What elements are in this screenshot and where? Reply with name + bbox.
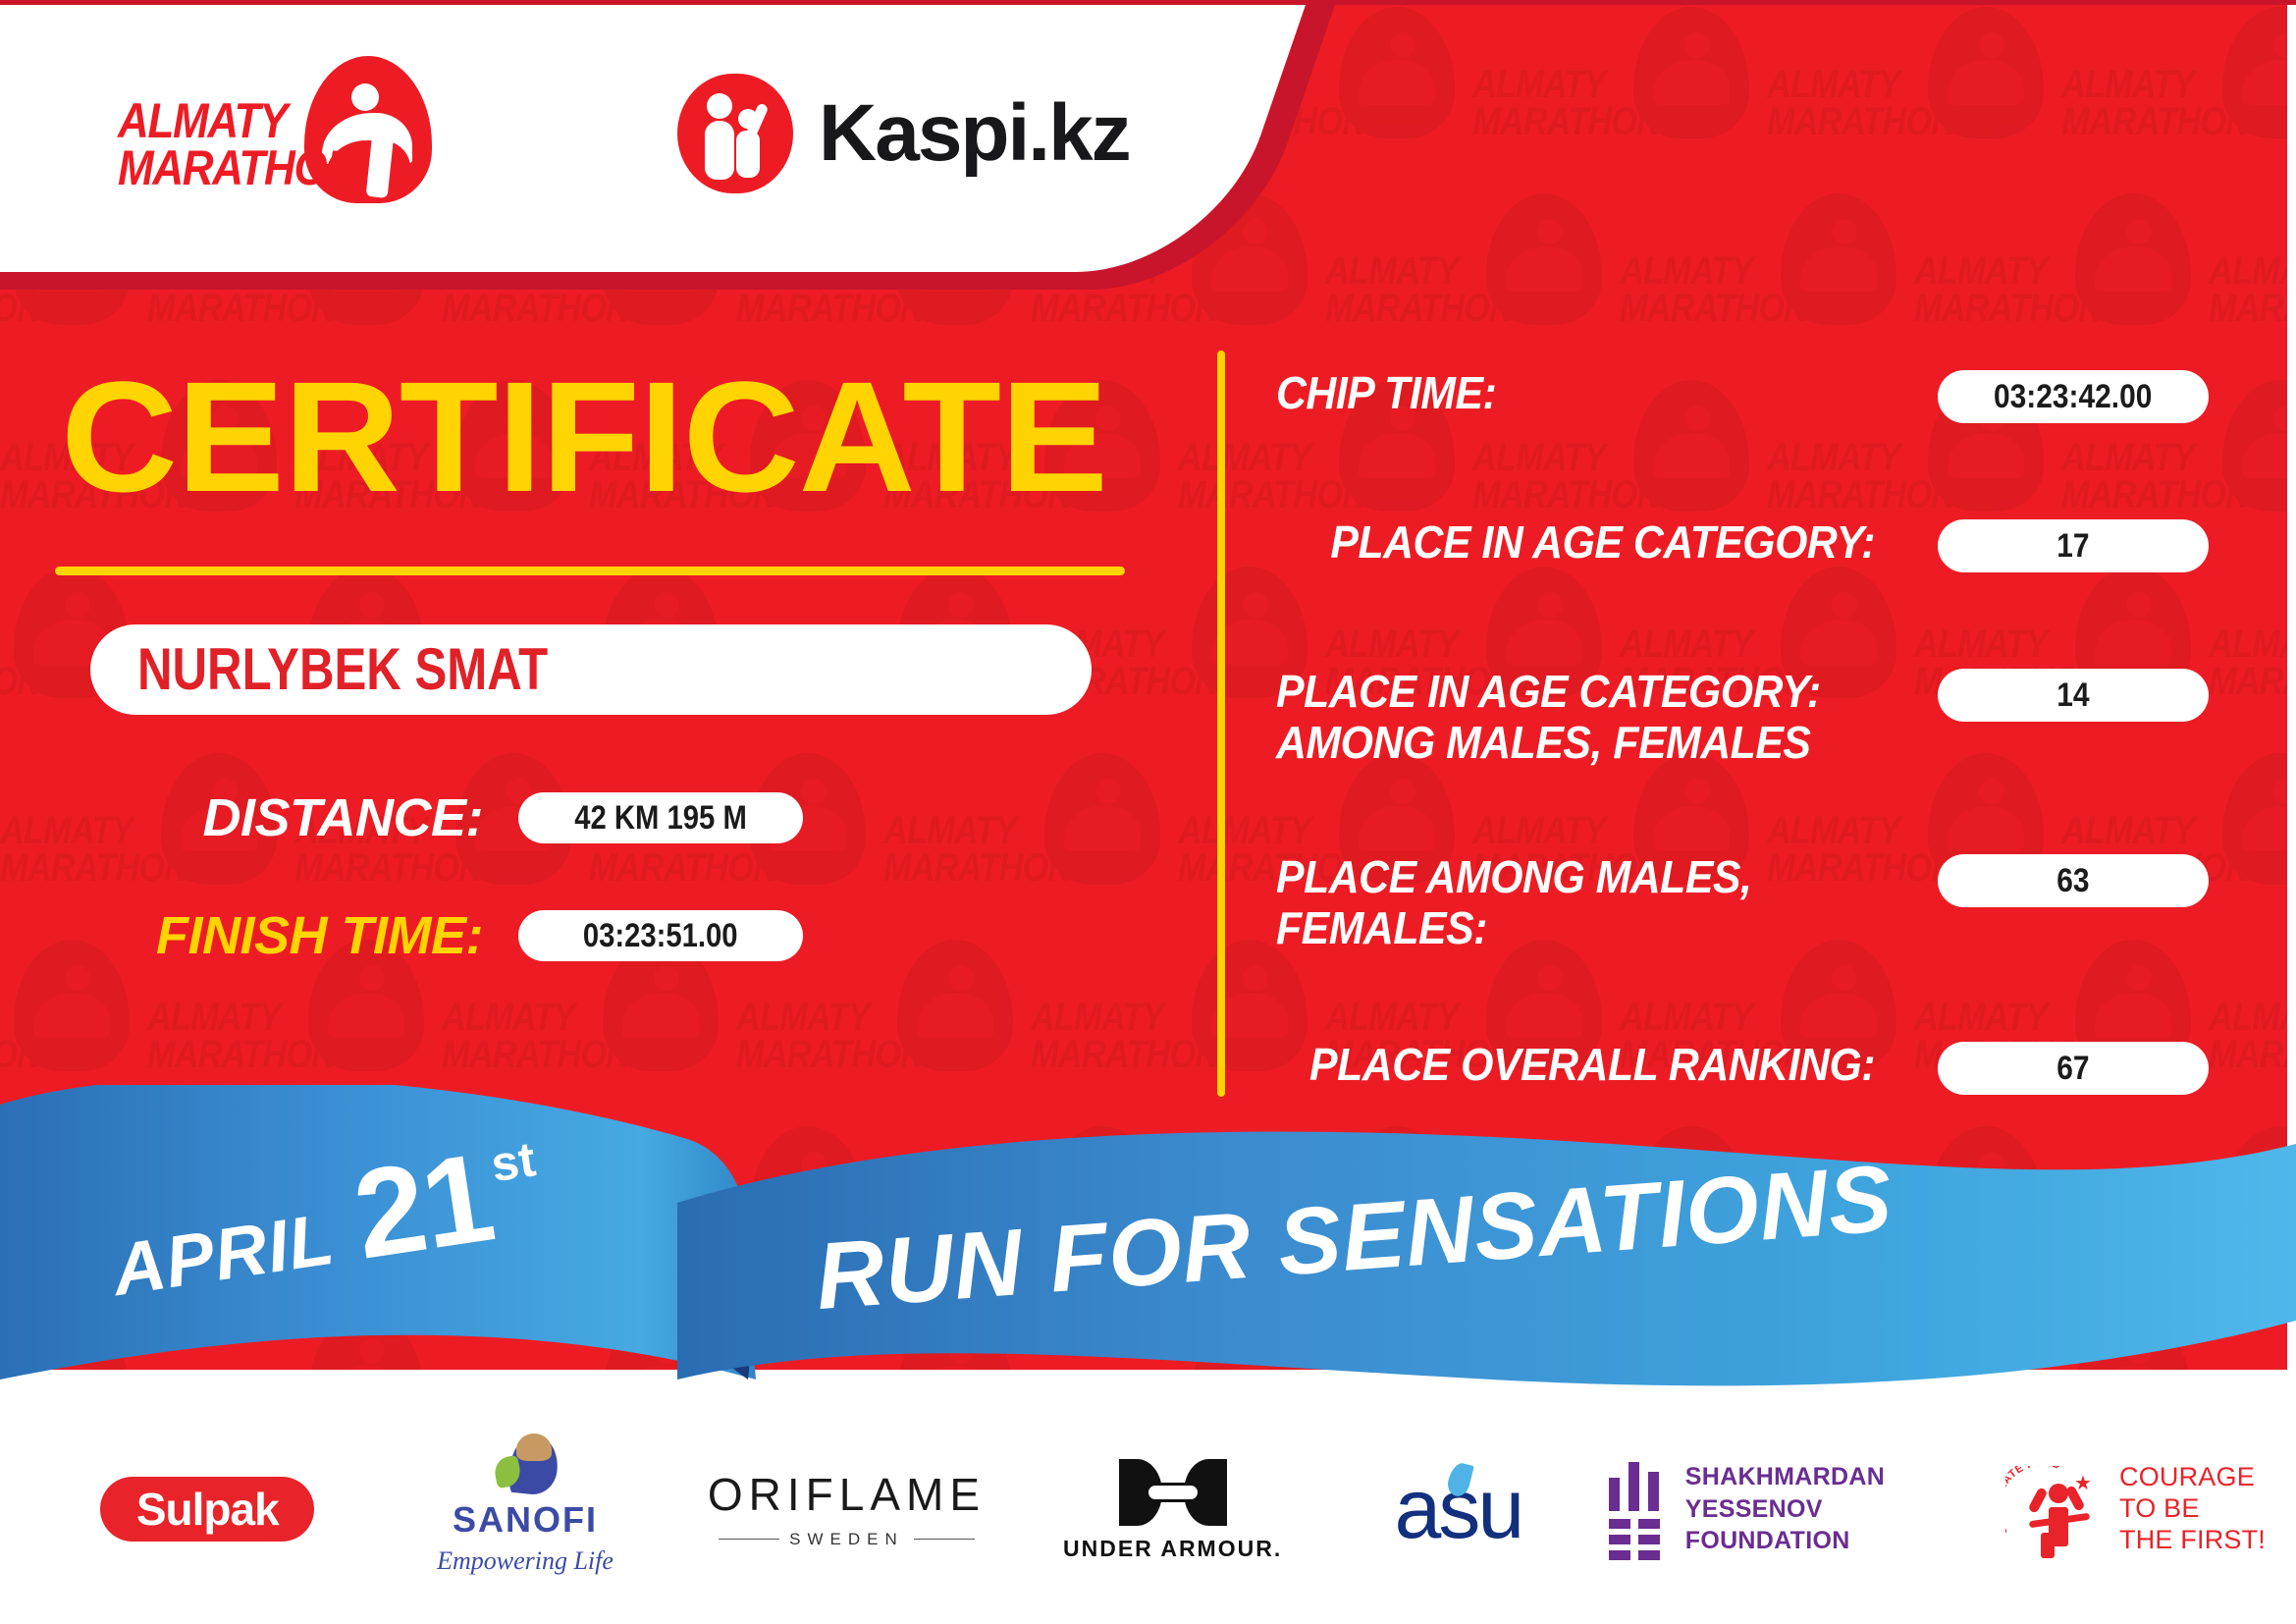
watermark-tile: ALMATYMARATHON [1767,5,2061,191]
certificate-stats-column: CHIP TIME: 03:23:42.00 PLACE IN AGE CATE… [1276,368,2209,1103]
participant-name: NURLYBEK SMAT [137,640,548,699]
certificate-canvas: ALMATYMARATHONALMATYMARATHONALMATYMARATH… [0,0,2296,1624]
sulpak-wordmark: Sulpak [136,1487,279,1532]
stat-label-place-among-males-females: PLACE AMONG MALES, FEMALES: [1276,852,1892,953]
stat-label-line2: AMONG MALES, FEMALES [1276,718,1875,769]
watermark-tile: ALMATYMARATHON [1620,191,1914,378]
stat-row-chip-time: CHIP TIME: 03:23:42.00 [1276,368,2209,431]
distance-value: 42 KM 195 M [574,801,747,835]
finish-time-row: FINISH TIME: 03:23:51.00 [90,909,1158,962]
kaspi-wordmark: Kaspi.kz [819,93,1130,174]
sponsor-under-armour: UNDER ARMOUR. [1047,1435,1297,1583]
watermark-tile: ALMATYMARATHON [2209,191,2287,378]
stat-label-line2: FEMALES: [1276,903,1875,954]
watermark-tile: ALMATYMARATHON [1472,5,1767,191]
oriflame-wordmark: ORIFLAME [704,1472,988,1517]
stat-value-place-age-category: 17 [2056,529,2089,563]
finish-time-value: 03:23:51.00 [583,919,738,952]
stat-label-chip-time: CHIP TIME: [1276,368,1892,419]
stat-pill-chip-time: 03:23:42.00 [1938,370,2209,423]
title-underline [55,567,1125,575]
stat-label-place-age-category-among: PLACE IN AGE CATEGORY: AMONG MALES, FEMA… [1276,667,1892,768]
distance-label: DISTANCE: [90,791,483,844]
courage-runner-icon: CORPORATE FUND ★ [2011,1460,2106,1558]
almaty-wordmark-line2: MARATHON [118,144,343,191]
almaty-marathon-wordmark: ALMATY MARATHON [118,97,343,191]
under-armour-wordmark: UNDER ARMOUR. [1050,1538,1296,1560]
courage-line3: THE FIRST! [2119,1525,2266,1556]
column-divider [1217,351,1225,1097]
courage-line2: TO BE [2119,1493,2266,1525]
sponsor-asu: asu [1357,1435,1560,1583]
stat-row-place-age-category-among: PLACE IN AGE CATEGORY: AMONG MALES, FEMA… [1276,667,2209,768]
watermark-tile: ALMATYMARATHON [2209,565,2287,751]
sponsor-strip: Sulpak SANOFI Empowering Life ORIFLAME S… [0,1394,2296,1624]
stat-row-place-age-category: PLACE IN AGE CATEGORY: 17 [1276,517,2209,580]
stat-label-line1: PLACE IN AGE CATEGORY: [1330,516,1875,568]
stat-value-place-overall-ranking: 67 [2056,1052,2089,1085]
courage-line1: COURAGE [2119,1462,2266,1493]
distance-row: DISTANCE: 42 KM 195 M [90,791,1158,844]
kaspi-people-icon [677,74,793,193]
sponsor-oriflame: ORIFLAME SWEDEN [704,1435,988,1583]
header-logos: ALMATY MARATHON Kaspi.kz [0,5,1178,272]
stat-label-line1: CHIP TIME: [1276,367,1496,418]
stat-row-place-among-males-females: PLACE AMONG MALES, FEMALES: 63 [1276,852,2209,953]
yessenov-line2: FOUNDATION [1685,1525,1972,1557]
under-armour-icon [1119,1459,1227,1526]
sponsor-sulpak: Sulpak [69,1435,347,1583]
watermark-tile: ALMATYMARATHON [2061,5,2287,191]
stat-pill-place-among-males-females: 63 [1938,854,2209,907]
ribbon-month: APRIL [108,1203,339,1308]
courage-fund-logo: CORPORATE FUND ★ COURAGETO BETHE FIRST! [2011,1460,2296,1558]
oriflame-rule-right [914,1539,975,1540]
finish-time-value-pill: 03:23:51.00 [518,910,803,961]
sanofi-tagline: Empowering Life [412,1545,638,1576]
yessenov-wordmark: SHAKHMARDAN YESSENOV FOUNDATION [1685,1461,1972,1557]
certificate-title: CERTIFICATE [61,358,1192,515]
watermark-tile: ALMATYMARATHON [1914,191,2209,378]
stat-label-place-overall-ranking: PLACE OVERALL RANKING: [1276,1040,1892,1091]
watermark-tile: ALMATYMARATHON [1325,191,1620,378]
yessenov-line1: SHAKHMARDAN YESSENOV [1685,1461,1972,1525]
stat-label-line1: PLACE AMONG MALES, [1276,851,1751,902]
distance-value-pill: 42 KM 195 M [518,792,803,843]
stat-pill-place-age-category: 17 [1938,519,2209,572]
oriflame-sweden-row: SWEDEN [704,1531,988,1547]
yessenov-bars-icon [1609,1462,1660,1556]
stat-label-line1: PLACE OVERALL RANKING: [1309,1039,1875,1090]
sponsor-courage-fund: CORPORATE FUND ★ COURAGETO BETHE FIRST! [2011,1435,2296,1583]
courage-fund-text: COURAGETO BETHE FIRST! [2119,1462,2266,1556]
sponsor-yessenov-foundation: SHAKHMARDAN YESSENOV FOUNDATION [1609,1435,1972,1583]
sponsor-sanofi: SANOFI Empowering Life [405,1435,646,1583]
oriflame-rule-left [719,1539,779,1540]
finish-time-label: FINISH TIME: [90,909,483,962]
ribbon-day: 21 [347,1135,500,1279]
stat-label-place-age-category: PLACE IN AGE CATEGORY: [1276,517,1892,568]
asu-logo: asu [1364,1467,1551,1551]
oriflame-tagline: SWEDEN [789,1531,904,1547]
sulpak-logo: Sulpak [100,1477,314,1542]
sanofi-logo: SANOFI Empowering Life [412,1435,638,1583]
sanofi-bird-icon [489,1435,561,1496]
stat-value-place-age-category-among: 14 [2056,678,2089,712]
stat-pill-place-age-category-among: 14 [1938,669,2209,722]
ribbon-ordinal: st [488,1134,538,1189]
kaspi-logo: Kaspi.kz [677,74,1130,193]
yessenov-logo: SHAKHMARDAN YESSENOV FOUNDATION [1609,1461,1972,1557]
under-armour-logo: UNDER ARMOUR. [1050,1459,1296,1560]
sanofi-wordmark: SANOFI [412,1502,638,1538]
event-date-ribbon: APRIL 21 st RUN FOR SENSATIONS [0,1085,2296,1409]
stat-label-line1: PLACE IN AGE CATEGORY: [1276,666,1821,717]
almaty-marathon-logo: ALMATY MARATHON [118,64,442,211]
oriflame-logo: ORIFLAME SWEDEN [704,1472,988,1547]
almaty-wordmark-line1: ALMATY [118,97,343,144]
participant-name-field: NURLYBEK SMAT [90,624,1092,715]
certificate-left-column: CERTIFICATE NURLYBEK SMAT DISTANCE: 42 K… [0,299,1158,962]
stat-value-chip-time: 03:23:42.00 [1994,380,2152,413]
stat-value-place-among-males-females: 63 [2056,864,2089,897]
